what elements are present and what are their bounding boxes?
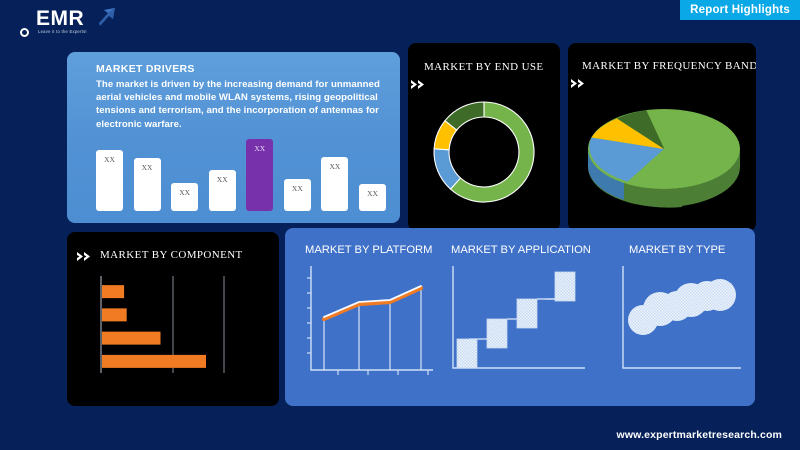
driver-bar-label: XX (96, 155, 123, 164)
report-highlights-badge-label: Report Highlights (690, 4, 790, 16)
market-by-platform-title: MARKET BY PLATFORM (305, 244, 432, 256)
driver-bar: XX (96, 150, 123, 211)
driver-bar-label: XX (246, 144, 273, 153)
double-chevron-icon (570, 78, 590, 89)
market-drivers-title: MARKET DRIVERS (96, 63, 195, 75)
market-by-frequency-band-panel: MARKET BY FREQUENCY BAND (568, 43, 756, 231)
driver-bar-label: XX (284, 184, 311, 193)
driver-bar-label: XX (359, 189, 386, 198)
double-chevron-icon (76, 251, 96, 262)
market-by-component-panel: MARKET BY COMPONENT (67, 232, 279, 406)
component-bar (102, 332, 161, 345)
driver-bar-label: XX (171, 188, 198, 197)
logo-tagline: Leave it to the Experts! (38, 29, 87, 34)
report-highlights-infographic: EMR Leave it to the Experts! Report High… (0, 0, 800, 450)
market-by-component-bar-chart (97, 274, 249, 377)
market-by-frequency-band-title: MARKET BY FREQUENCY BAND (582, 60, 756, 72)
market-by-end-use-title: MARKET BY END USE (424, 61, 544, 73)
driver-bar-label: XX (209, 175, 236, 184)
logo-wordmark: EMR (36, 8, 84, 29)
logo-ring-icon (20, 28, 29, 37)
market-by-application-title: MARKET BY APPLICATION (451, 244, 591, 256)
market-by-application-waterfall-chart (445, 262, 595, 380)
driver-bar: XX (246, 139, 273, 211)
driver-bar: XX (284, 179, 311, 211)
market-by-component-title: MARKET BY COMPONENT (100, 249, 243, 261)
double-chevron-icon (410, 79, 430, 90)
emr-logo: EMR Leave it to the Experts! (18, 6, 128, 40)
component-bar (102, 285, 124, 298)
market-by-platform-line-chart (297, 262, 439, 380)
driver-bar: XX (359, 184, 386, 211)
market-by-type-bubble-chart (615, 262, 747, 380)
component-bar (102, 308, 127, 321)
market-drivers-bar-chart: XXXXXXXXXXXXXXXX (96, 135, 386, 211)
bottom-charts-panel: MARKET BY PLATFORM (285, 228, 755, 406)
driver-bar-label: XX (321, 162, 348, 171)
driver-bar: XX (209, 170, 236, 211)
market-drivers-body: The market is driven by the increasing d… (96, 78, 384, 131)
driver-bar: XX (134, 158, 161, 211)
driver-bar: XX (321, 157, 348, 211)
component-bar (102, 355, 206, 368)
market-drivers-panel: MARKET DRIVERS The market is driven by t… (67, 52, 400, 223)
market-by-type-title: MARKET BY TYPE (629, 244, 725, 256)
market-by-end-use-donut-chart (428, 93, 540, 211)
logo-arrow-icon (96, 6, 118, 28)
report-highlights-badge: Report Highlights (680, 0, 800, 20)
driver-bar-label: XX (134, 163, 161, 172)
driver-bar: XX (171, 183, 198, 212)
footer-website-url: www.expertmarketresearch.com (617, 429, 782, 441)
market-by-frequency-band-pie-chart (584, 103, 744, 213)
header: EMR Leave it to the Experts! Report High… (0, 0, 800, 26)
market-by-end-use-panel: MARKET BY END USE (408, 43, 560, 231)
